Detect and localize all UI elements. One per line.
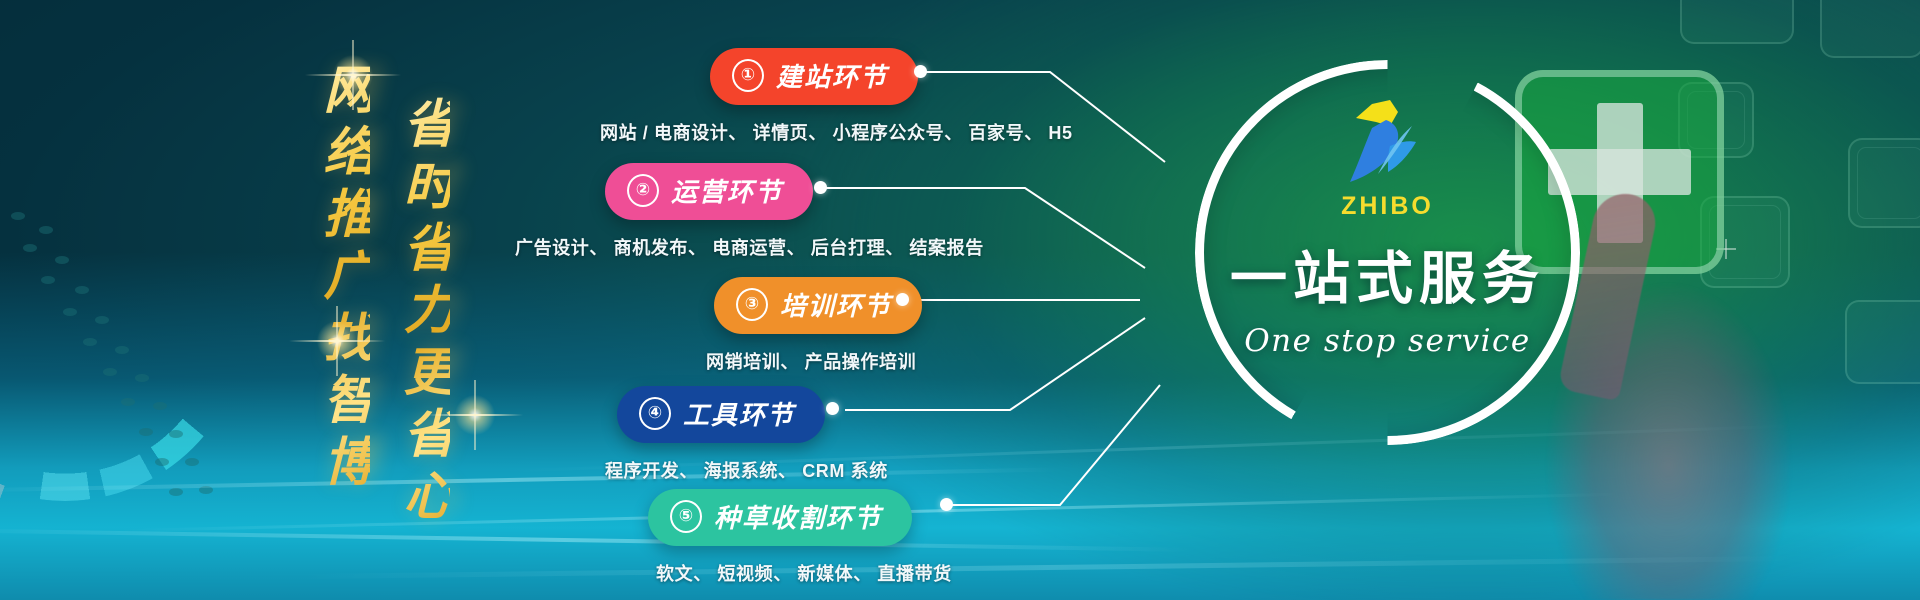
- calligraphy-line-2: 省时省力更省心: [398, 96, 450, 530]
- hero-content: ZHIBO 一站式服务 One stop service: [1195, 60, 1580, 445]
- ui-chip-f: [1820, 0, 1920, 58]
- step-1-title: 建站环节: [776, 57, 888, 94]
- step-5[interactable]: ⑤ 种草收割环节 软文、 短视频、 新媒体、 直播带货: [648, 489, 952, 586]
- step-1-bullet: [914, 65, 927, 78]
- step-2-pill[interactable]: ② 运营环节: [605, 163, 813, 220]
- ui-chip-e: [1680, 0, 1794, 44]
- step-1-number: ①: [732, 59, 764, 92]
- step-3-subtitle: 网销培训、 产品操作培训: [706, 348, 922, 374]
- step-1[interactable]: ① 建站环节 网站 / 电商设计、 详情页、 小程序公众号、 百家号、 H5: [710, 48, 1073, 145]
- step-5-bullet: [940, 498, 953, 511]
- step-4-number: ④: [639, 397, 671, 430]
- step-5-subtitle: 软文、 短视频、 新媒体、 直播带货: [656, 560, 952, 586]
- step-2-number: ②: [627, 174, 659, 207]
- step-4-bullet: [826, 402, 839, 415]
- step-3-bullet: [896, 293, 909, 306]
- step-5-number: ⑤: [670, 500, 702, 533]
- step-2[interactable]: ② 运营环节 广告设计、 商机发布、 电商运营、 后台打理、 结案报告: [605, 163, 984, 260]
- step-5-pill[interactable]: ⑤ 种草收割环节: [648, 489, 912, 546]
- hero-title-cn: 一站式服务: [1230, 233, 1545, 315]
- step-3[interactable]: ③ 培训环节 网销培训、 产品操作培训: [714, 277, 922, 374]
- promo-banner: 网络推广找智博 省时省力更省心 ① 建站环节 网站 / 电商设计、 详情页、 小…: [0, 0, 1920, 600]
- hero-title-en: One stop service: [1244, 323, 1531, 359]
- hero-circle: ZHIBO 一站式服务 One stop service: [1195, 60, 1580, 445]
- step-3-title: 培训环节: [780, 286, 892, 323]
- step-3-pill[interactable]: ③ 培训环节: [714, 277, 922, 334]
- step-4-title: 工具环节: [683, 395, 795, 432]
- step-4[interactable]: ④ 工具环节 程序开发、 海报系统、 CRM 系统: [617, 386, 888, 483]
- brand-name: ZHIBO: [1341, 192, 1434, 221]
- step-2-title: 运营环节: [671, 172, 783, 209]
- light-streaks: [0, 390, 1920, 600]
- step-1-subtitle: 网站 / 电商设计、 详情页、 小程序公众号、 百家号、 H5: [600, 119, 1073, 145]
- zhibo-logo-icon: [1328, 98, 1448, 190]
- step-4-pill[interactable]: ④ 工具环节: [617, 386, 825, 443]
- calligraphy-line-1: 网络推广找智博: [318, 62, 370, 496]
- step-2-subtitle: 广告设计、 商机发布、 电商运营、 后台打理、 结案报告: [515, 234, 984, 260]
- step-3-number: ③: [736, 288, 768, 321]
- step-1-pill[interactable]: ① 建站环节: [710, 48, 918, 105]
- step-2-bullet: [814, 181, 827, 194]
- step-4-subtitle: 程序开发、 海报系统、 CRM 系统: [605, 457, 888, 483]
- step-5-title: 种草收割环节: [714, 498, 882, 535]
